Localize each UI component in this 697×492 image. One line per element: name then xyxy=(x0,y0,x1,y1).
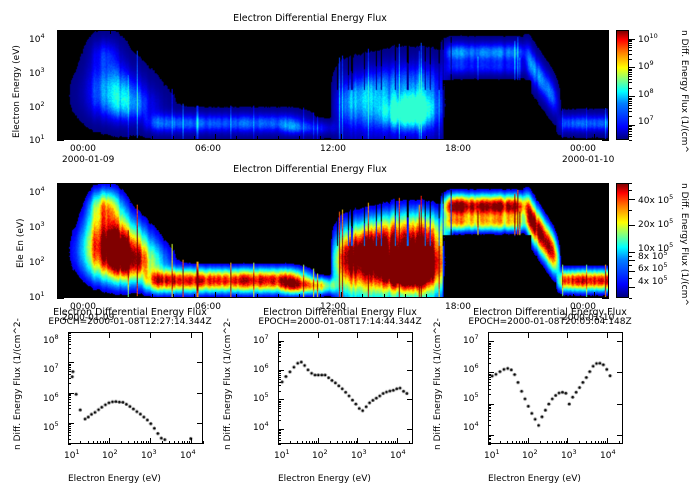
panel5-xtick-3: 103 xyxy=(561,449,577,461)
panel2-ytick-3: 103 xyxy=(29,221,45,233)
panel2-cbtick-4: 4x 105 xyxy=(638,275,668,287)
panel4-ytick-7: 107 xyxy=(253,334,269,346)
axis-tick xyxy=(602,298,609,299)
panel3-subtitle: EPOCH=2000-01-08T12:27:14.344Z xyxy=(30,318,230,327)
axis-tick xyxy=(629,99,632,100)
panel2-plot-frame xyxy=(57,183,609,298)
axis-tick xyxy=(629,125,635,126)
panel1-xtick-0: 00:00 xyxy=(70,145,96,154)
panel4-plot-frame xyxy=(278,332,413,444)
panel1-plot-frame xyxy=(57,30,609,140)
axis-tick xyxy=(629,67,635,68)
axis-tick xyxy=(629,225,635,226)
panel2-ylabel: Ele En (eV) xyxy=(16,218,26,268)
axis-tick xyxy=(629,101,632,102)
axis-tick xyxy=(629,76,632,77)
panel2-title: Electron Differential Energy Flux xyxy=(0,165,620,175)
panel3-ylabel: n Diff. Energy Flux (1/(cm^2- xyxy=(13,318,23,450)
panel5-ytick-6: 106 xyxy=(463,363,479,375)
panel4-scatter-points xyxy=(279,333,412,443)
panel3-xtick-2: 102 xyxy=(102,449,118,461)
panel3-plot-frame xyxy=(68,332,203,444)
axis-tick xyxy=(629,50,632,51)
panel1-colorbar-label: n Diff. Energy Flux (1/(cm^ xyxy=(679,30,689,153)
panel5-ytick-7: 107 xyxy=(463,334,479,346)
panel4-ytick-6: 106 xyxy=(253,363,269,375)
axis-tick xyxy=(629,74,632,75)
panel3-ytick-7: 107 xyxy=(43,363,59,375)
panel4-ytick-5: 105 xyxy=(253,392,269,404)
panel3-xtick-4: 104 xyxy=(180,449,196,461)
panel4-xtick-4: 104 xyxy=(390,449,406,461)
panel3-xtick-3: 103 xyxy=(141,449,157,461)
panel5-scatter-points xyxy=(489,333,622,443)
axis-tick xyxy=(629,190,632,191)
axis-tick xyxy=(629,131,632,132)
panel2-colorbar-label: n Diff. Energy Flux (1/(cm^ xyxy=(679,183,689,306)
panel1-ytick-1: 101 xyxy=(29,134,45,146)
panel1-ylabel: Electron Energy (eV) xyxy=(12,45,22,138)
panel1-cbtick-9: 109 xyxy=(638,60,654,72)
axis-tick xyxy=(488,444,491,445)
panel1-ytick-2: 102 xyxy=(29,101,45,113)
axis-tick xyxy=(629,287,632,288)
axis-tick xyxy=(629,105,632,106)
axis-tick xyxy=(629,116,632,117)
panel3-ytick-8: 108 xyxy=(43,334,59,346)
axis-tick xyxy=(629,271,635,272)
axis-tick xyxy=(629,183,632,184)
axis-tick xyxy=(629,79,632,80)
panel4-xtick-2: 102 xyxy=(312,449,328,461)
panel5-ytick-4: 104 xyxy=(463,421,479,433)
panel3-ytick-5: 105 xyxy=(43,421,59,433)
panel4-ylabel: n Diff. Energy Flux (1/(cm^2- xyxy=(223,318,233,450)
axis-tick xyxy=(57,298,64,299)
axis-tick xyxy=(629,128,632,129)
axis-tick xyxy=(629,111,632,112)
axis-tick xyxy=(629,108,632,109)
axis-tick xyxy=(602,140,609,141)
axis-tick xyxy=(629,129,632,130)
panel3-ytick-6: 106 xyxy=(43,392,59,404)
panel3-xtick-1: 101 xyxy=(64,449,80,461)
axis-tick xyxy=(629,45,632,46)
axis-tick xyxy=(629,199,635,200)
axis-tick xyxy=(57,140,64,141)
panel1-cbtick-7: 107 xyxy=(638,115,654,127)
panel5-xtick-4: 104 xyxy=(600,449,616,461)
axis-tick xyxy=(629,287,635,288)
panel1-ytick-4: 104 xyxy=(29,33,45,45)
axis-tick xyxy=(629,54,632,55)
panel5-plot-frame xyxy=(488,332,623,444)
axis-tick xyxy=(629,47,632,48)
panel2-cbtick-6: 6x 105 xyxy=(638,262,668,274)
axis-tick xyxy=(629,40,632,41)
axis-tick xyxy=(629,136,632,137)
panel5-ylabel: n Diff. Energy Flux (1/(cm^2- xyxy=(433,318,443,450)
axis-tick xyxy=(629,278,632,279)
axis-tick xyxy=(629,88,632,89)
axis-tick xyxy=(629,41,632,42)
panel5-xtick-1: 101 xyxy=(484,449,500,461)
panel2-cbtick-40: 40x 105 xyxy=(638,194,673,206)
axis-tick xyxy=(629,260,632,261)
panel4-xtick-3: 103 xyxy=(351,449,367,461)
axis-tick xyxy=(629,265,632,266)
panel4-xlabel: Electron Energy (eV) xyxy=(278,475,371,484)
axis-tick xyxy=(629,260,635,261)
panel1-xtick-3: 18:00 xyxy=(445,145,471,154)
axis-tick xyxy=(629,199,632,200)
axis-tick xyxy=(629,225,632,226)
panel5-xtick-2: 102 xyxy=(522,449,538,461)
axis-tick xyxy=(629,126,632,127)
panel2-cbtick-20: 20x 105 xyxy=(638,218,673,230)
axis-tick xyxy=(629,70,632,71)
panel5-xlabel: Electron Energy (eV) xyxy=(488,475,581,484)
axis-tick xyxy=(629,98,632,99)
axis-tick xyxy=(629,256,632,257)
axis-tick xyxy=(278,444,281,445)
panel4-subtitle: EPOCH=2000-01-08T17:14:44.344Z xyxy=(240,318,440,327)
axis-tick xyxy=(629,134,632,135)
panel1-cbtick-10: 1010 xyxy=(638,33,658,45)
axis-tick xyxy=(629,140,632,141)
axis-tick xyxy=(629,59,632,60)
axis-tick xyxy=(629,43,632,44)
panel1-ytick-3: 103 xyxy=(29,67,45,79)
panel5-subtitle: EPOCH=2000-01-08T20:05:04.148Z xyxy=(450,318,650,327)
panel1-xdate-right: 2000-01-10 xyxy=(562,156,614,165)
panel3-scatter-points xyxy=(69,333,202,443)
panel2-ytick-2: 102 xyxy=(29,256,45,268)
axis-tick xyxy=(203,441,204,444)
figure-canvas: Electron Differential Energy Flux Electr… xyxy=(0,0,697,492)
panel3-xlabel: Electron Energy (eV) xyxy=(68,475,161,484)
axis-tick xyxy=(629,210,632,211)
axis-tick xyxy=(629,72,632,73)
axis-tick xyxy=(629,96,635,97)
panel2-colorbar xyxy=(616,183,629,298)
panel4-xtick-1: 101 xyxy=(274,449,290,461)
panel2-ytick-1: 101 xyxy=(29,291,45,303)
panel1-title: Electron Differential Energy Flux xyxy=(0,14,620,24)
axis-tick xyxy=(629,271,632,272)
axis-tick xyxy=(629,252,635,253)
panel1-colorbar xyxy=(616,30,629,140)
panel1-xtick-4: 00:00 xyxy=(570,145,596,154)
axis-tick xyxy=(68,444,71,445)
panel1-xtick-1: 06:00 xyxy=(195,145,221,154)
axis-tick xyxy=(629,82,632,83)
panel5-ytick-5: 105 xyxy=(463,392,479,404)
panel4-ytick-4: 104 xyxy=(253,421,269,433)
panel1-cbtick-8: 108 xyxy=(638,88,654,100)
panel1-spectrogram-image xyxy=(58,31,608,139)
axis-tick xyxy=(629,298,632,299)
axis-tick xyxy=(629,39,635,40)
axis-tick xyxy=(629,69,632,70)
panel2-ytick-4: 104 xyxy=(29,186,45,198)
panel1-xdate-left: 2000-01-09 xyxy=(62,156,114,165)
axis-tick xyxy=(629,103,632,104)
panel2-spectrogram-image xyxy=(58,184,608,297)
panel1-xtick-2: 12:00 xyxy=(320,145,346,154)
